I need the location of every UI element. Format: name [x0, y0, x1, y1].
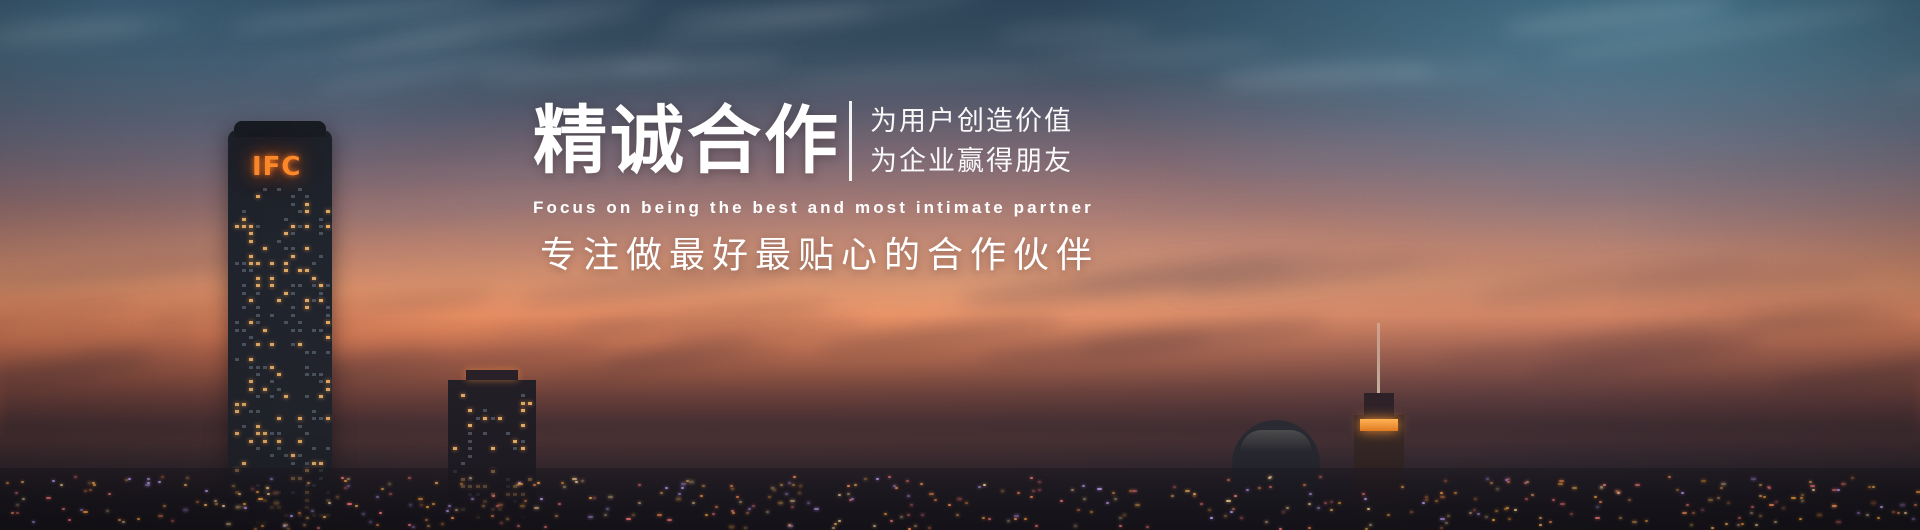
headline-row: 精诚合作 为用户创造价值 为企业赢得朋友: [533, 98, 1073, 184]
headline-divider: [849, 101, 852, 181]
tagline-english: Focus on being the best and most intimat…: [533, 198, 1058, 218]
headline-side-lines: 为用户创造价值 为企业赢得朋友: [870, 105, 1073, 178]
banner-content: 精诚合作 为用户创造价值 为企业赢得朋友 Focus on being the …: [0, 0, 1920, 530]
banner-headline: 精诚合作: [533, 98, 841, 184]
headline-side-line-2: 为企业赢得朋友: [870, 145, 1073, 178]
tagline-chinese: 专注做最好最贴心的合作伙伴: [533, 232, 1058, 280]
hero-banner: IFC 精诚合作 为用户创造价值 为企业赢得朋友 Focus on being …: [0, 0, 1920, 530]
headline-side-line-1: 为用户创造价值: [870, 105, 1073, 138]
